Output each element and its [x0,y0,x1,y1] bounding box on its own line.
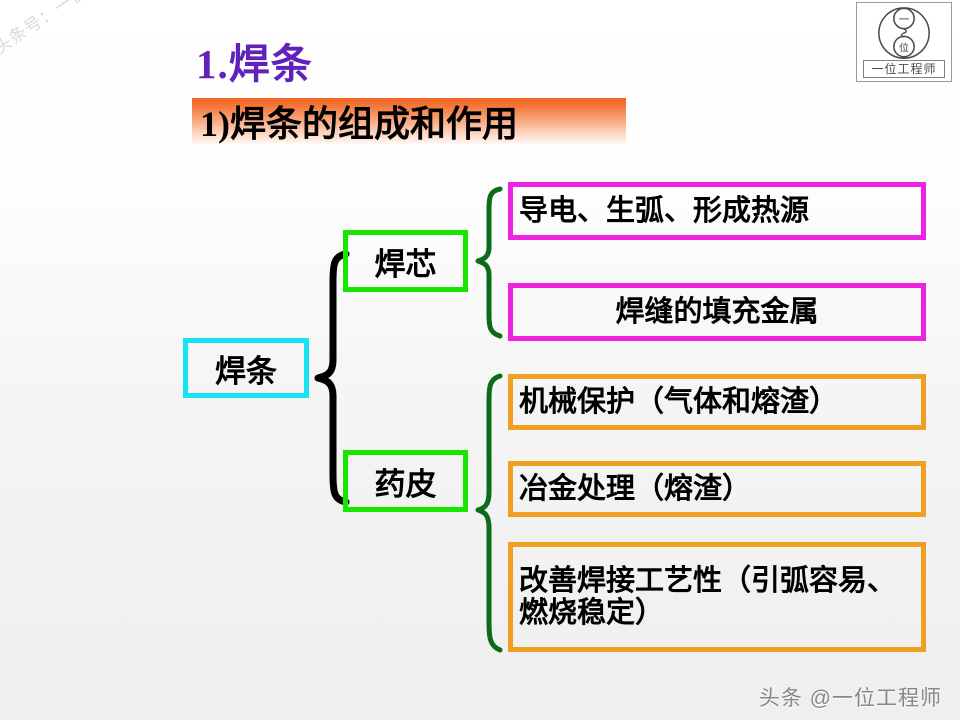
leaf-node: 改善焊接工艺性（引弧容易、燃烧稳定） [508,542,926,652]
watermark-top-left: 头条号：一位工程师 [0,0,159,59]
node-branch-coating: 药皮 [343,450,468,512]
leaf-node-label: 冶金处理（熔渣） [513,473,751,505]
node-root: 焊条 [183,338,309,398]
leaf-node-label: 导电、生弧、形成热源 [513,195,809,227]
node-root-label: 焊条 [215,346,277,391]
leaf-node-label: 焊缝的填充金属 [615,296,818,328]
logo-mark-icon: 一 位 [875,5,933,63]
brace-coating-icon [474,372,506,654]
leaf-node: 焊缝的填充金属 [508,283,926,341]
node-branch-coating-label: 药皮 [375,459,437,504]
watermark-bottom-right: 头条 @一位工程师 [759,682,942,712]
logo-caption: 一位工程师 [863,60,945,78]
section-banner-label: 1)焊条的组成和作用 [192,106,518,142]
brace-core-icon [474,185,506,340]
logo-badge: 一 位 一位工程师 [856,2,952,82]
svg-text:位: 位 [899,42,909,54]
page-title: 1.焊条 [196,30,313,90]
leaf-node: 导电、生弧、形成热源 [508,182,926,240]
leaf-node: 机械保护（气体和熔渣） [508,374,926,430]
slide-canvas: 头条号：一位工程师 一 位 一位工程师 1.焊条 1)焊条的组成和作用 焊条 焊… [0,0,960,720]
leaf-node-label: 机械保护（气体和熔渣） [513,386,838,418]
node-branch-core: 焊芯 [343,230,468,292]
leaf-node: 冶金处理（熔渣） [508,461,926,517]
section-banner: 1)焊条的组成和作用 [192,98,626,150]
node-branch-core-label: 焊芯 [375,239,437,284]
svg-text:一: 一 [899,14,910,26]
leaf-node-label: 改善焊接工艺性（引弧容易、燃烧稳定） [513,565,921,630]
